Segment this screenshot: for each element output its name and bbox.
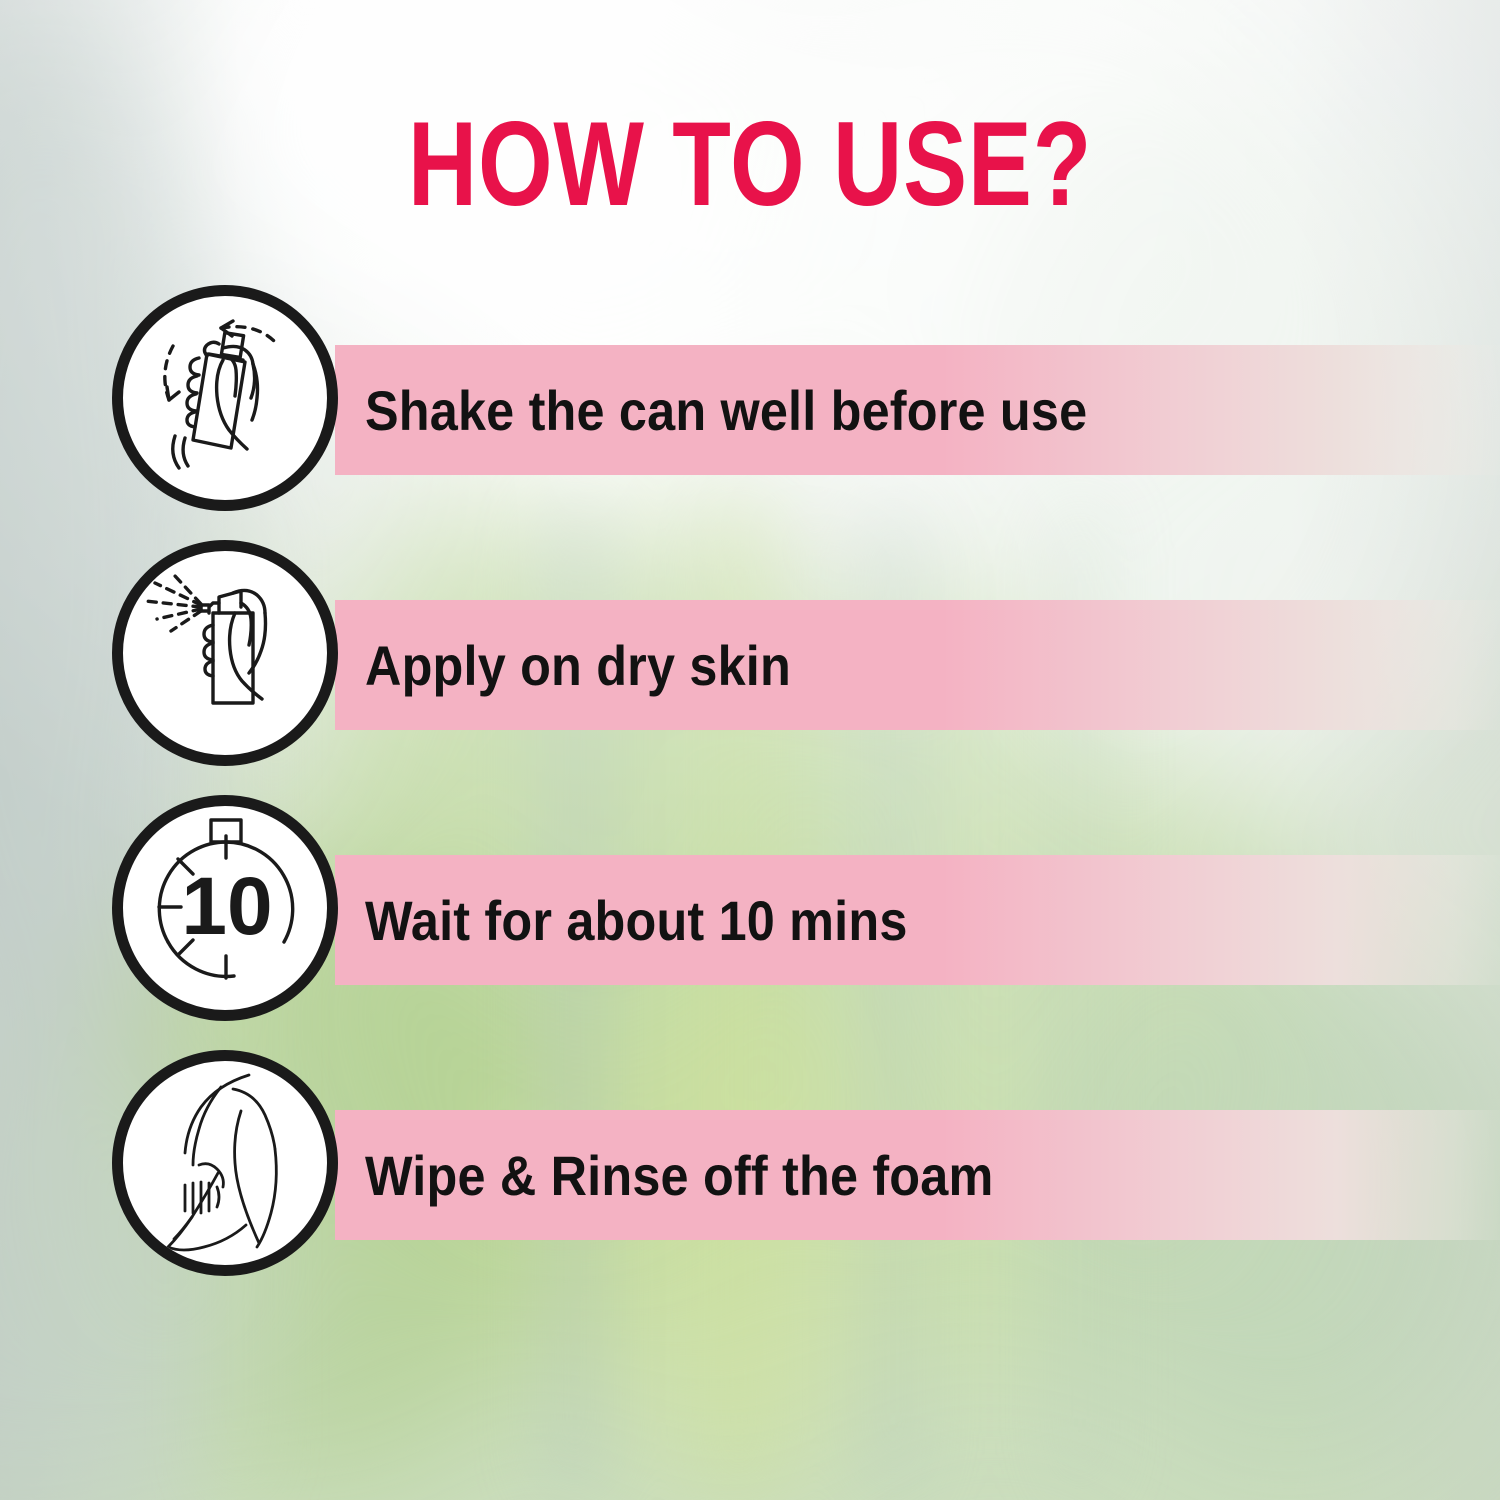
step-row: Apply on dry skin: [0, 540, 1500, 800]
step-label: Wait for about 10 mins: [365, 855, 908, 985]
step-bar: Wipe & Rinse off the foam: [335, 1110, 1500, 1240]
hand-wiping-leg-icon: [123, 1061, 327, 1265]
step-bar: Wait for about 10 mins: [335, 855, 1500, 985]
step-label: Shake the can well before use: [365, 345, 1087, 475]
step-bar: Shake the can well before use: [335, 345, 1500, 475]
step-bar: Apply on dry skin: [335, 600, 1500, 730]
step-icon-circle: [112, 1050, 338, 1276]
step-icon-circle: 10: [112, 795, 338, 1021]
step-label: Wipe & Rinse off the foam: [365, 1110, 993, 1240]
step-icon-circle: [112, 285, 338, 511]
infographic-canvas: HOW TO USE? Shake the can well before us…: [0, 0, 1500, 1500]
stopwatch-icon: 10: [123, 806, 327, 1010]
hand-spraying-can-icon: [123, 551, 327, 755]
page-title: HOW TO USE?: [150, 104, 1350, 224]
hand-shaking-spray-can-icon: [123, 296, 327, 500]
step-icon-circle: [112, 540, 338, 766]
step-label: Apply on dry skin: [365, 600, 791, 730]
step-row: Shake the can well before use: [0, 285, 1500, 545]
step-row: Wipe & Rinse off the foam: [0, 1050, 1500, 1310]
step-row: Wait for about 10 mins 10: [0, 795, 1500, 1055]
stopwatch-value: 10: [181, 861, 272, 952]
